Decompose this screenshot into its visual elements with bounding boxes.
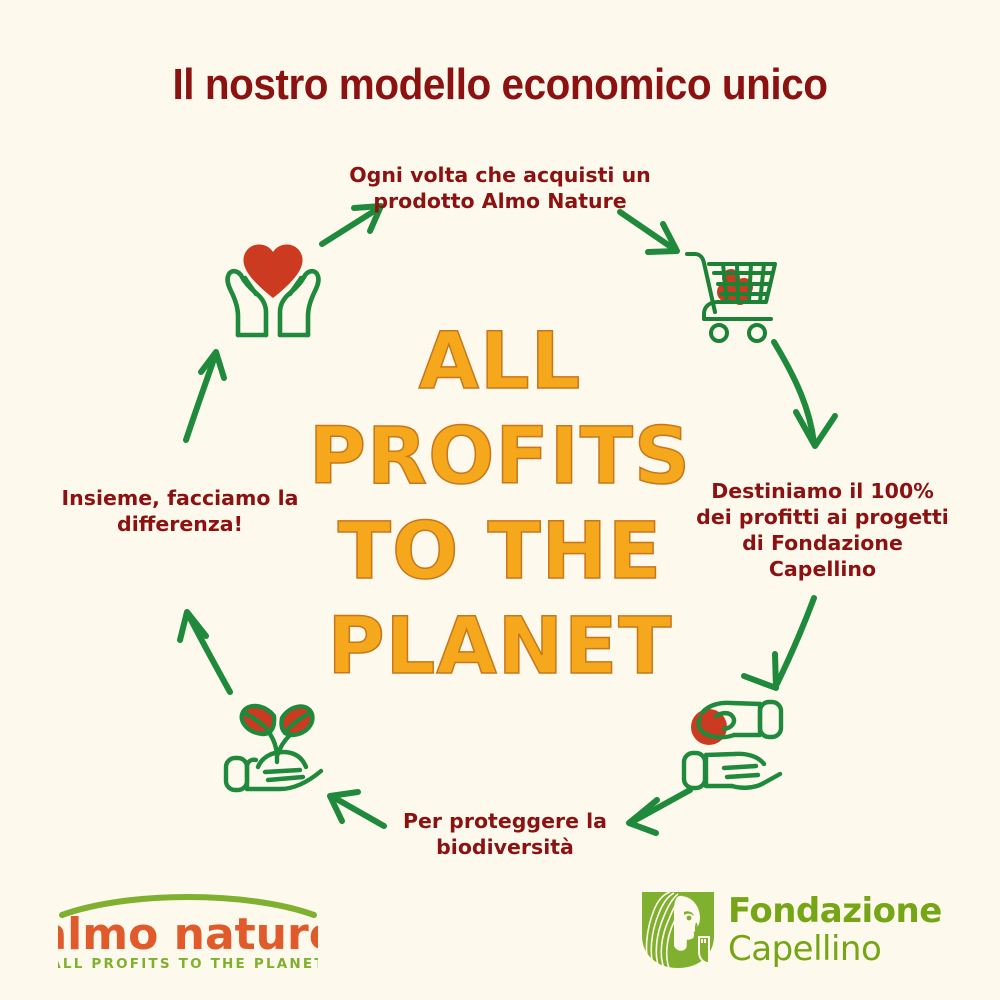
arrow-plant-to-together xyxy=(180,612,230,692)
shopping-cart-icon xyxy=(682,240,787,345)
almo-nature-logo: almo nature ALL PROFITS TO THE PLANET xyxy=(58,893,318,973)
wordmark-line-3: TO THE xyxy=(300,505,700,600)
hands-holding-heart-icon xyxy=(218,236,328,341)
caption-biodiversity: Per proteggere la biodiversità xyxy=(375,808,635,860)
fondazione-capellino-logo: Fondazione Capellino xyxy=(640,890,950,972)
caption-profits: Destiniamo il 100% dei profitti ai proge… xyxy=(690,478,955,582)
fondazione-line-2: Capellino xyxy=(728,930,942,968)
arrow-purchase-to-cart xyxy=(620,212,677,252)
almo-nature-tagline: ALL PROFITS TO THE PLANET xyxy=(58,956,318,972)
center-wordmark: ALL PROFITS TO THE PLANET xyxy=(300,315,700,695)
arrow-left-up-to-heart xyxy=(186,352,224,440)
almo-nature-name: almo nature xyxy=(58,909,318,960)
wordmark-line-4: PLANET xyxy=(300,600,700,695)
wordmark-line-1: ALL xyxy=(300,315,700,410)
fondazione-line-1: Fondazione xyxy=(728,892,942,930)
arrow-cart-to-profits xyxy=(774,342,835,446)
infographic-canvas: Il nostro modello economico unico xyxy=(0,0,1000,1000)
caption-together: Insieme, facciamo la differenza! xyxy=(55,485,305,537)
hand-holding-seedling-icon xyxy=(218,688,338,798)
arrow-profits-to-donate xyxy=(744,598,814,688)
caption-purchase: Ogni volta che acquisti un prodotto Almo… xyxy=(340,162,660,214)
wordmark-line-2: PROFITS xyxy=(300,410,700,505)
hand-giving-coin-icon xyxy=(672,692,792,797)
woman-profile-emblem-icon xyxy=(640,890,716,970)
